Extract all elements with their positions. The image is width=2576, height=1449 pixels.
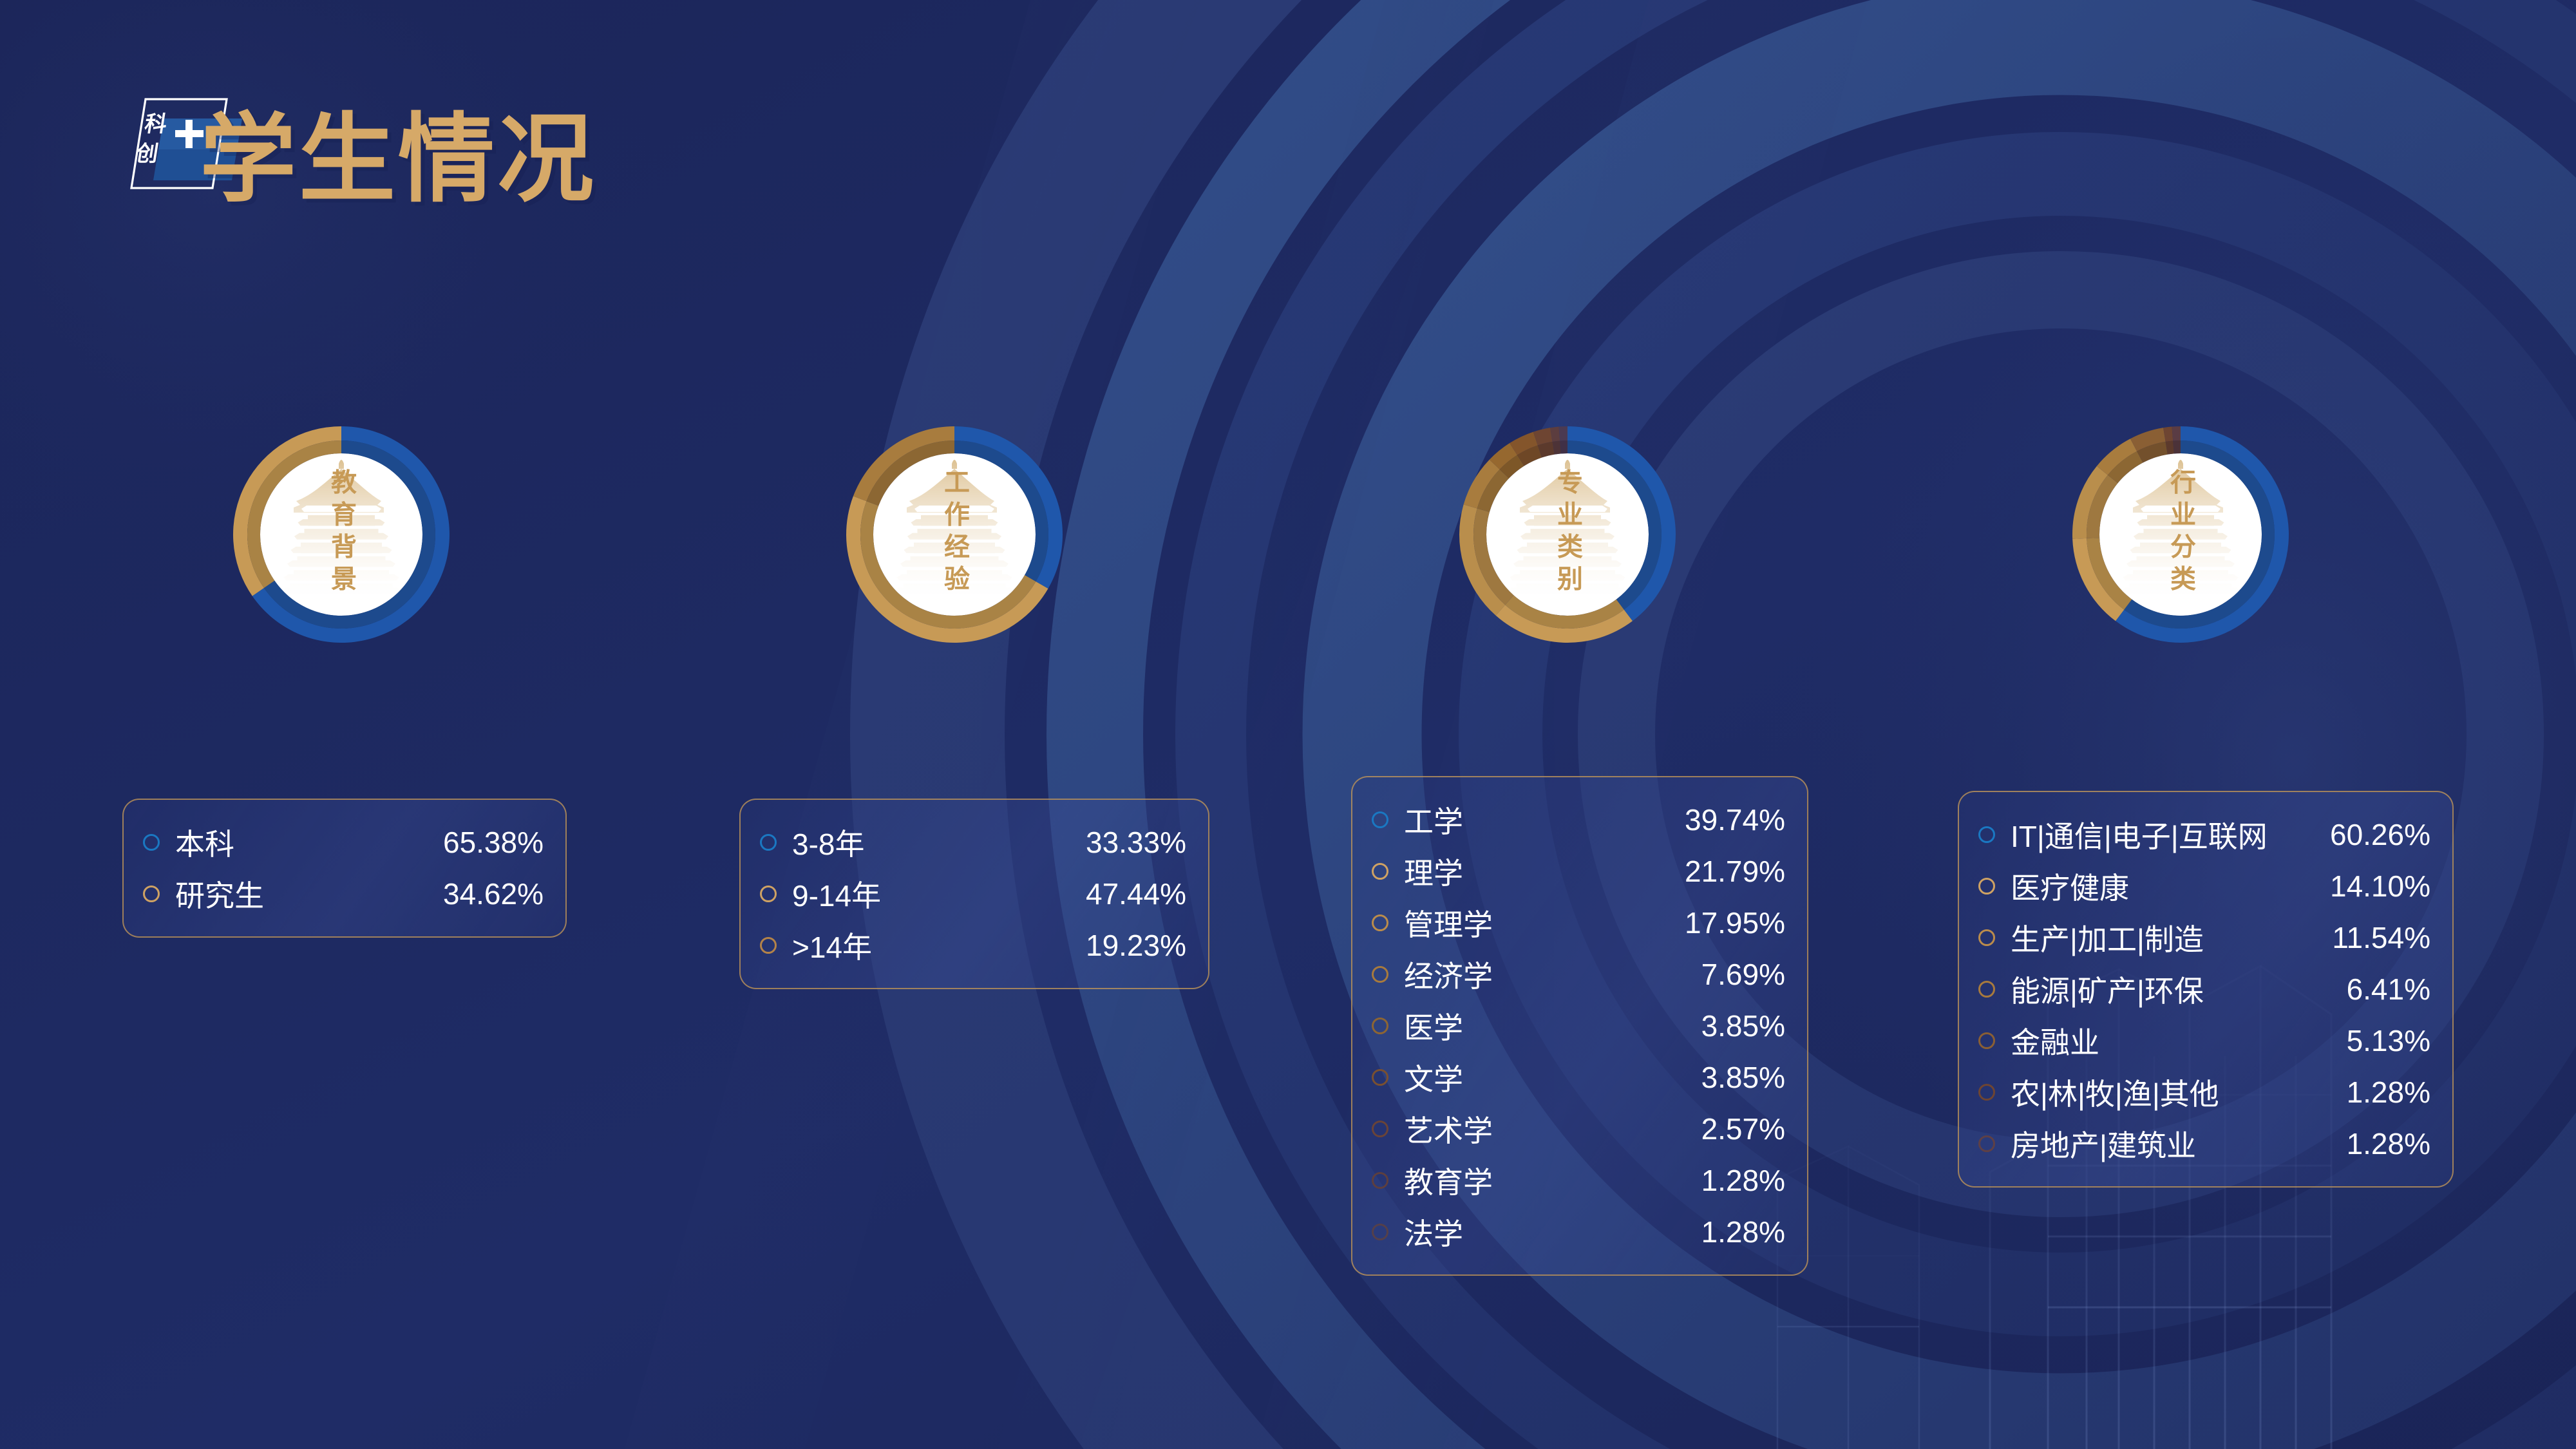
legend-marker-dot — [1978, 1032, 1995, 1049]
legend-marker-dot — [760, 834, 777, 851]
donut-slice-outer[interactable] — [1559, 426, 1567, 440]
legend-category-label: 法学 — [1404, 1211, 1676, 1253]
legend-category-label: 农|林|牧|渔|其他 — [2011, 1071, 2321, 1113]
legend-category-label: 本科 — [175, 821, 417, 864]
legend-value-label: 1.28% — [2347, 1126, 2430, 1161]
legend-category-label: 房地产|建筑业 — [2011, 1122, 2321, 1165]
donut-slice-outer[interactable] — [2172, 426, 2181, 440]
legend-value-label: 34.62% — [443, 876, 544, 911]
legend-row[interactable]: IT|通信|电子|互联网 60.26% — [1978, 809, 2430, 860]
legend-marker-dot — [1978, 1084, 1995, 1101]
legend-value-label: 2.57% — [1701, 1112, 1785, 1146]
legend-category-label: 医学 — [1404, 1005, 1676, 1047]
legend-marker-dot — [1372, 1069, 1388, 1086]
legend-row[interactable]: 本科 65.38% — [143, 817, 544, 868]
legend-row[interactable]: 能源|矿产|环保 6.41% — [1978, 963, 2430, 1015]
legend-panel-1: 3-8年 33.33% 9-14年 47.44% >14年 19.23% — [739, 799, 1209, 989]
legend-value-label: 39.74% — [1685, 802, 1785, 837]
legend-category-label: 经济学 — [1404, 953, 1676, 996]
legend-marker-dot — [1372, 1121, 1388, 1137]
legend-value-label: 65.38% — [443, 825, 544, 860]
legend-value-label: 1.28% — [1701, 1163, 1785, 1198]
legend-value-label: 6.41% — [2347, 972, 2430, 1007]
legend-value-label: 17.95% — [1685, 905, 1785, 940]
legend-marker-dot — [1978, 929, 1995, 946]
donut-svg — [2039, 393, 2322, 676]
legend-value-label: 47.44% — [1086, 876, 1186, 911]
legend-category-label: >14年 — [792, 924, 1060, 967]
svg-text:科: 科 — [143, 112, 169, 137]
legend-marker-dot — [1372, 1172, 1388, 1189]
donut-svg — [200, 393, 483, 676]
legend-category-label: 9-14年 — [792, 873, 1060, 915]
legend-panel-0: 本科 65.38% 研究生 34.62% — [122, 799, 567, 938]
legend-row[interactable]: 法学 1.28% — [1372, 1206, 1785, 1258]
legend-marker-dot — [143, 885, 160, 902]
legend-category-label: 生产|加工|制造 — [2011, 916, 2306, 959]
donut-chart-1[interactable]: 工作经验 — [813, 393, 1096, 676]
donut-chart-2[interactable]: 专业类别 — [1426, 393, 1709, 676]
legend-marker-dot — [1372, 914, 1388, 931]
legend-category-label: 医疗健康 — [2011, 865, 2304, 907]
legend-marker-dot — [1978, 1135, 1995, 1152]
donut-svg — [813, 393, 1096, 676]
legend-row[interactable]: 教育学 1.28% — [1372, 1155, 1785, 1206]
legend-row[interactable]: 经济学 7.69% — [1372, 949, 1785, 1000]
legend-row[interactable]: 生产|加工|制造 11.54% — [1978, 912, 2430, 963]
legend-value-label: 3.85% — [1701, 1060, 1785, 1095]
legend-marker-dot — [1978, 981, 1995, 998]
legend-category-label: 理学 — [1404, 850, 1659, 893]
legend-marker-dot — [1372, 811, 1388, 828]
legend-panel-2: 工学 39.74% 理学 21.79% 管理学 17.95% 经济学 7.69%… — [1351, 776, 1808, 1276]
legend-category-label: 文学 — [1404, 1056, 1676, 1099]
legend-row[interactable]: 9-14年 47.44% — [760, 868, 1186, 920]
legend-value-label: 33.33% — [1086, 825, 1186, 860]
donut-slice-inner[interactable] — [2173, 440, 2181, 453]
legend-row[interactable]: 艺术学 2.57% — [1372, 1103, 1785, 1155]
legend-value-label: 5.13% — [2347, 1023, 2430, 1058]
legend-marker-dot — [1978, 878, 1995, 895]
legend-value-label: 1.28% — [1701, 1215, 1785, 1249]
legend-value-label: 21.79% — [1685, 854, 1785, 889]
legend-row[interactable]: 房地产|建筑业 1.28% — [1978, 1118, 2430, 1170]
legend-row[interactable]: 管理学 17.95% — [1372, 897, 1785, 949]
legend-category-label: 金融业 — [2011, 1019, 2321, 1062]
legend-marker-dot — [1978, 826, 1995, 843]
legend-category-label: 艺术学 — [1404, 1108, 1676, 1150]
svg-text:创: 创 — [134, 142, 160, 166]
legend-panel-3: IT|通信|电子|互联网 60.26% 医疗健康 14.10% 生产|加工|制造… — [1958, 791, 2454, 1188]
legend-marker-dot — [1372, 1018, 1388, 1034]
legend-row[interactable]: 理学 21.79% — [1372, 846, 1785, 897]
legend-value-label: 19.23% — [1086, 928, 1186, 963]
legend-category-label: 教育学 — [1404, 1159, 1676, 1202]
donut-chart-3[interactable]: 行业分类 — [2039, 393, 2322, 676]
legend-category-label: 3-8年 — [792, 821, 1060, 864]
legend-category-label: 研究生 — [175, 873, 417, 915]
legend-category-label: 管理学 — [1404, 902, 1659, 944]
legend-value-label: 60.26% — [2330, 817, 2430, 852]
legend-category-label: IT|通信|电子|互联网 — [2011, 813, 2304, 856]
legend-marker-dot — [1372, 1224, 1388, 1240]
legend-row[interactable]: 医学 3.85% — [1372, 1000, 1785, 1052]
legend-marker-dot — [1372, 863, 1388, 880]
legend-category-label: 能源|矿产|环保 — [2011, 968, 2321, 1010]
legend-marker-dot — [760, 885, 777, 902]
legend-value-label: 11.54% — [2332, 920, 2430, 955]
donut-chart-0[interactable]: 教育背景 — [200, 393, 483, 676]
decorative-background — [0, 0, 2576, 1449]
legend-value-label: 14.10% — [2330, 869, 2430, 904]
legend-row[interactable]: 医疗健康 14.10% — [1978, 860, 2430, 912]
legend-value-label: 1.28% — [2347, 1075, 2430, 1110]
donut-slice-inner[interactable] — [1560, 440, 1567, 453]
legend-category-label: 工学 — [1404, 799, 1659, 841]
legend-marker-dot — [760, 937, 777, 954]
legend-marker-dot — [1372, 966, 1388, 983]
legend-row[interactable]: 农|林|牧|渔|其他 1.28% — [1978, 1066, 2430, 1118]
legend-marker-dot — [143, 834, 160, 851]
legend-row[interactable]: 3-8年 33.33% — [760, 817, 1186, 868]
legend-row[interactable]: 金融业 5.13% — [1978, 1015, 2430, 1066]
legend-value-label: 7.69% — [1701, 957, 1785, 992]
legend-row[interactable]: 研究生 34.62% — [143, 868, 544, 920]
legend-value-label: 3.85% — [1701, 1009, 1785, 1043]
legend-row[interactable]: 工学 39.74% — [1372, 794, 1785, 846]
donut-svg — [1426, 393, 1709, 676]
legend-row[interactable]: 文学 3.85% — [1372, 1052, 1785, 1103]
legend-row[interactable]: >14年 19.23% — [760, 920, 1186, 971]
page-title: 学生情况 — [200, 111, 596, 207]
